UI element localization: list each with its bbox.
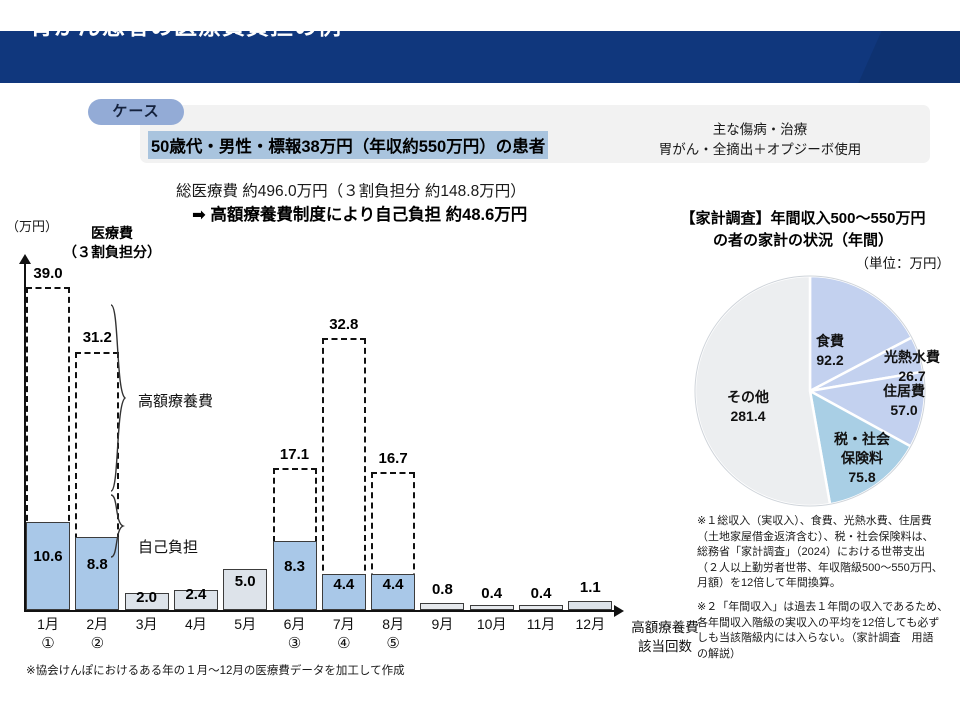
pie-label-tax-insurance: 税・社会 保険料 75.8 xyxy=(824,430,900,487)
footnote-2-line1: ※２「年間収入」は過去１年間の収入であるため、 xyxy=(697,600,959,616)
x-axis-label-11: 11月 xyxy=(518,614,564,634)
x-axis-month-8: 8月 xyxy=(370,614,416,634)
x-axis-line xyxy=(24,610,616,612)
footnote-1-line3: 総務省「家計調査」（2024）における世帯支出 xyxy=(697,545,959,561)
case-disease-info: 主な傷病・治療 胃がん・全摘出＋オプジーボ使用 xyxy=(600,120,920,160)
bar-total-label-1: 39.0 xyxy=(17,265,79,282)
x-axis-month-7: 7月 xyxy=(321,614,367,634)
bar-self-pay-label-1: 10.6 xyxy=(26,548,70,565)
bar-slot-5 xyxy=(223,262,269,610)
footnote-2-line3: しも当該階級内には入らない。（家計調査 用語 xyxy=(697,631,959,647)
pie-label-other-value: 281.4 xyxy=(706,407,790,426)
pie-label-other: その他 281.4 xyxy=(706,388,790,426)
brace-label-self-pay: 自己負担 xyxy=(138,536,198,557)
page-title: 胃がん患者の医療費負担の例 xyxy=(30,0,342,52)
x-axis-occurrence-2: ② xyxy=(74,634,120,654)
bar-total-label-12: 1.1 xyxy=(559,579,621,596)
bar-self-pay-label-5: 5.0 xyxy=(223,573,267,590)
bar-self-pay-10[interactable] xyxy=(470,605,514,610)
bar-slot-12 xyxy=(568,262,614,610)
footnote-1-line1: ※１総収入（実収入）、食費、光熱水費、住居費 xyxy=(697,514,959,530)
x-axis-label-6: 6月③ xyxy=(272,614,318,654)
pie-label-food-value: 92.2 xyxy=(800,351,860,370)
x-axis-occurrence-7: ④ xyxy=(321,634,367,654)
pie-title-line2: の者の家計の状況（年間） xyxy=(650,230,956,252)
brace-self-pay xyxy=(108,493,130,559)
bar-slot-10 xyxy=(470,262,516,610)
pie-unit-label: （単位：万円） xyxy=(650,252,950,272)
x-axis-month-2: 2月 xyxy=(74,614,120,634)
pie-title-line1: 【家計調査】年間収入500～550万円 xyxy=(650,208,956,230)
bar-slot-11 xyxy=(519,262,565,610)
x-axis-label-1: 1月① xyxy=(25,614,71,654)
footnote-1: ※１総収入（実収入）、食費、光熱水費、住居費 （土地家屋借金返済含む）、税・社会… xyxy=(697,514,959,592)
bar-self-pay-9[interactable] xyxy=(420,603,464,610)
bar-self-pay-6[interactable] xyxy=(273,541,317,610)
pie-label-housing: 住居費 57.0 xyxy=(868,382,940,420)
pie-label-tax-value: 75.8 xyxy=(824,468,900,487)
bar-self-pay-1[interactable] xyxy=(26,522,70,610)
source-note: ※協会けんぽにおけるある年の１月～12月の医療費データを加工して作成 xyxy=(26,662,405,678)
x-axis-occurrence-6: ③ xyxy=(272,634,318,654)
pie-label-utilities: 光熱水費 26.7 xyxy=(872,348,952,386)
footnote-2-line2: 各年間収入階級の実収入の平均を12倍しても必ず xyxy=(697,616,959,632)
bar-series-title-line2: （３割負担分） xyxy=(42,243,182,262)
pie-label-food: 食費 92.2 xyxy=(800,332,860,370)
bar-slot-9 xyxy=(420,262,466,610)
x-axis-month-10: 10月 xyxy=(469,614,515,634)
bar-slot-8 xyxy=(371,262,417,610)
footnote-1-line4: （２人以上勤労者世帯、年収階級500～550万円、 xyxy=(697,561,959,577)
bar-slot-4 xyxy=(174,262,220,610)
x-axis-month-5: 5月 xyxy=(222,614,268,634)
x-axis-occurrence-8: ⑤ xyxy=(370,634,416,654)
brace-label-high-cost-benefit: 高額療養費 xyxy=(138,390,213,411)
bar-chart: （万円） 医療費 （３割負担分） 39.010.631.28.82.02.45.… xyxy=(0,210,660,670)
x-axis-label-2: 2月② xyxy=(74,614,120,654)
x-axis-label-9: 9月 xyxy=(419,614,465,634)
footnote-2-line4: の解説） xyxy=(697,647,959,663)
x-axis-month-6: 6月 xyxy=(272,614,318,634)
brace-high-cost-benefit xyxy=(108,303,134,493)
x-axis-label-7: 7月④ xyxy=(321,614,367,654)
pie-label-tax-line1: 税・社会 xyxy=(824,430,900,449)
footnote-1-line5: 月額）を12倍して年間換算。 xyxy=(697,576,959,592)
x-axis-occurrence-1: ① xyxy=(25,634,71,654)
bar-total-label-8: 16.7 xyxy=(362,450,424,467)
bar-self-pay-12[interactable] xyxy=(568,601,612,610)
bar-self-pay-label-4: 2.4 xyxy=(174,586,218,603)
pie-label-other-name: その他 xyxy=(706,388,790,407)
case-disease-detail: 胃がん・全摘出＋オプジーボ使用 xyxy=(600,140,920,160)
pie-label-food-name: 食費 xyxy=(800,332,860,351)
footnote-1-line2: （土地家屋借金返済含む）、税・社会保険料は、 xyxy=(697,530,959,546)
bar-slot-7 xyxy=(322,262,368,610)
bar-self-pay-label-8: 4.4 xyxy=(371,576,415,593)
bar-self-pay-label-3: 2.0 xyxy=(125,589,169,606)
bar-self-pay-label-6: 8.3 xyxy=(273,558,317,575)
x-axis-label-8: 8月⑤ xyxy=(370,614,416,654)
bar-total-outline-7 xyxy=(322,338,366,610)
x-axis-label-4: 4月 xyxy=(173,614,219,634)
x-axis-label-5: 5月 xyxy=(222,614,268,634)
x-axis-month-1: 1月 xyxy=(25,614,71,634)
x-axis-month-12: 12月 xyxy=(567,614,613,634)
case-disease-heading: 主な傷病・治療 xyxy=(600,120,920,140)
pie-label-tax-line2: 保険料 xyxy=(824,449,900,468)
bar-series-title-line1: 医療費 xyxy=(42,224,182,243)
summary-total-cost: 総医療費 約496.0万円（３割負担分 約148.8万円） xyxy=(176,179,526,201)
bar-total-label-7: 32.8 xyxy=(313,316,375,333)
bar-self-pay-label-7: 4.4 xyxy=(322,576,366,593)
footnote-2: ※２「年間収入」は過去１年間の収入であるため、 各年間収入階級の実収入の平均を1… xyxy=(697,600,959,662)
case-pill-label: ケース xyxy=(88,99,184,125)
pie-label-housing-name: 住居費 xyxy=(868,382,940,401)
bar-self-pay-11[interactable] xyxy=(519,605,563,610)
pie-label-housing-value: 57.0 xyxy=(868,401,940,420)
pie-chart-title: 【家計調査】年間収入500～550万円 の者の家計の状況（年間） xyxy=(650,208,956,252)
x-axis-month-9: 9月 xyxy=(419,614,465,634)
x-axis-label-10: 10月 xyxy=(469,614,515,634)
x-axis-label-3: 3月 xyxy=(124,614,170,634)
bar-total-label-6: 17.1 xyxy=(264,446,326,463)
bar-series-title: 医療費 （３割負担分） xyxy=(42,224,182,262)
pie-label-utilities-name: 光熱水費 xyxy=(872,348,952,367)
case-description: 50歳代・男性・標報38万円（年収約550万円）の患者 xyxy=(148,131,548,159)
x-axis-month-4: 4月 xyxy=(173,614,219,634)
x-axis-month-3: 3月 xyxy=(124,614,170,634)
x-axis-month-11: 11月 xyxy=(518,614,564,634)
x-axis-label-12: 12月 xyxy=(567,614,613,634)
